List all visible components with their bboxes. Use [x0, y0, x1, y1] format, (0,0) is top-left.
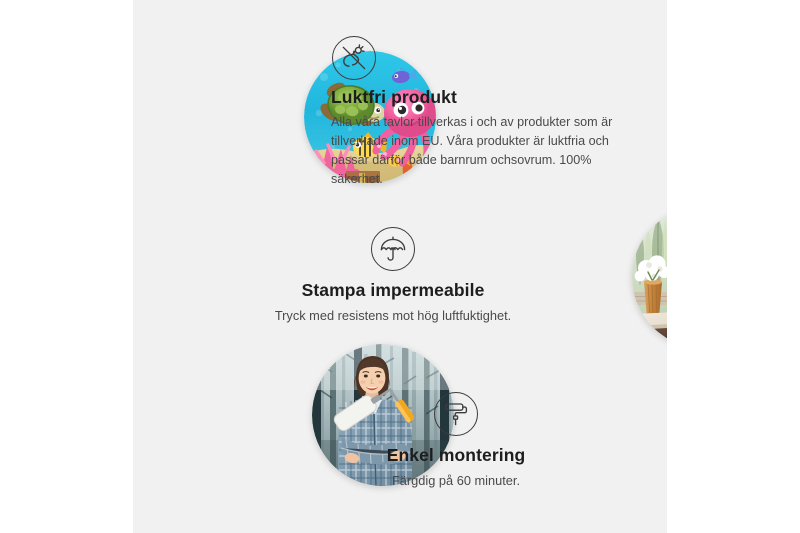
feature-title: Stampa impermeabile — [206, 280, 580, 302]
feature-odourless: Luktfri produkt Alla våra tavlor tillver… — [331, 36, 634, 189]
bathroom-wallpaper-circle-photo — [632, 206, 667, 348]
feature-easy-mount: Enkel montering Färgdig på 60 minuter. — [321, 392, 591, 490]
feature-title: Luktfri produkt — [331, 87, 634, 109]
feature-waterproof: Stampa impermeabile Tryck med resistens … — [206, 227, 580, 325]
infographic-page: Luktfri produkt Alla våra tavlor tillver… — [0, 0, 800, 533]
umbrella-icon — [371, 227, 415, 271]
paint-roller-icon — [434, 392, 478, 436]
feature-body: Alla våra tavlor tillverkas i och av pro… — [331, 113, 634, 190]
feature-title: Enkel montering — [321, 445, 591, 467]
feature-body: Tryck med resistens mot hög luftfuktighe… — [206, 306, 580, 325]
content-panel: Luktfri produkt Alla våra tavlor tillver… — [133, 0, 667, 533]
no-fragrance-spray-icon — [332, 36, 376, 80]
feature-body: Färgdig på 60 minuter. — [321, 471, 591, 490]
